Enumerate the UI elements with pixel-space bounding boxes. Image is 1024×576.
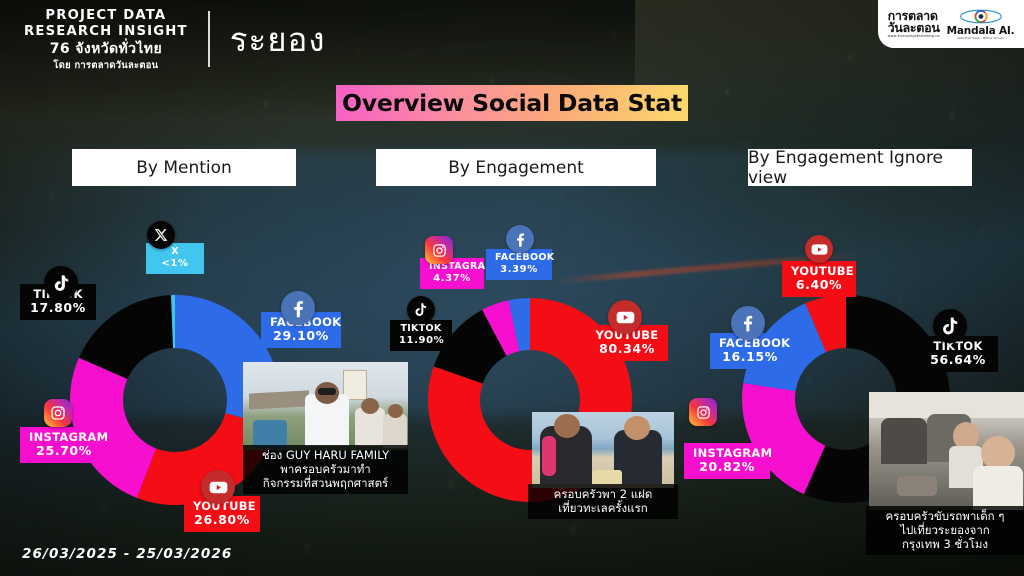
section-label-2: By Engagement Ignore view bbox=[748, 148, 972, 188]
instagram-icon bbox=[425, 236, 453, 264]
youtube-icon bbox=[805, 235, 833, 263]
page-title: Overview Social Data Stat bbox=[336, 85, 688, 121]
instagram-icon bbox=[689, 398, 717, 426]
pill-youtube-ignore-view: YOUTUBE 6.40% bbox=[782, 261, 856, 297]
infographic-canvas: PROJECT DATA RESEARCH INSIGHT 76 จังหวัด… bbox=[0, 0, 1024, 576]
tiktok-icon bbox=[407, 296, 435, 324]
header-line-4: โดย การตลาดวันละตอน bbox=[24, 60, 188, 71]
caption-mention-line-3: กิจกรรมที่สวนพฤกศาสตร์ bbox=[251, 476, 400, 490]
tiktok-icon bbox=[44, 266, 78, 300]
pill-youtube-ignore-view-value: 6.40% bbox=[791, 278, 847, 292]
caption-ignore-view-line-2: ไปเที่ยวระยองจาก bbox=[874, 523, 1016, 537]
mandala-eye-icon bbox=[960, 8, 1002, 25]
header-line-3: 76 จังหวัดทั่วไทย bbox=[24, 41, 188, 58]
youtube-icon bbox=[608, 300, 642, 334]
header-line-2: RESEARCH INSIGHT bbox=[24, 24, 188, 40]
section-label-0: By Mention bbox=[136, 158, 232, 178]
province-name: ระยอง bbox=[230, 13, 326, 66]
pill-instagram-ignore-view-name: INSTAGRAM bbox=[693, 447, 761, 460]
pill-tiktok-mention-value: 17.80% bbox=[29, 301, 87, 315]
pill-youtube-mention-value: 26.80% bbox=[193, 513, 251, 527]
section-header-by-engagement: By Engagement bbox=[376, 149, 656, 186]
pill-tiktok-engagement-name: TIKTOK bbox=[399, 324, 443, 335]
caption-mention-line-2: พาครอบครัวมาทำ bbox=[251, 462, 400, 476]
pill-facebook-mention-value: 29.10% bbox=[270, 329, 332, 343]
thumbnail-ignore-view bbox=[869, 392, 1024, 510]
pill-tiktok-ignore-view: TIKTOK 56.64% bbox=[918, 336, 998, 372]
pill-facebook-engagement-value: 3.39% bbox=[495, 264, 543, 275]
pill-instagram-ignore-view: INSTAGRAM 20.82% bbox=[684, 443, 770, 479]
pill-youtube-ignore-view-name: YOUTUBE bbox=[791, 265, 847, 278]
page-title-text: Overview Social Data Stat bbox=[342, 89, 682, 117]
facebook-icon bbox=[731, 306, 765, 340]
tiktok-icon bbox=[933, 309, 967, 343]
mandala-ai-logo: Mandala AI. CREATIVE DATA - MEDIA SOCIAL bbox=[947, 8, 1015, 39]
logo-brand-url: www.EverydayMarketing.co bbox=[888, 35, 940, 38]
header-branding: PROJECT DATA RESEARCH INSIGHT 76 จังหวัด… bbox=[24, 8, 325, 71]
caption-ignore-view-line-1: ครอบครัวขับรถพาเด็ก ๆ bbox=[874, 509, 1016, 523]
header-divider bbox=[208, 11, 210, 67]
logo-panel: การตลาด วันละตอน www.EverydayMarketing.c… bbox=[878, 0, 1024, 48]
pill-instagram-mention: INSTAGRAM 25.70% bbox=[20, 427, 108, 463]
caption-mention-line-1: ช่อง GUY HARU FAMILY bbox=[251, 448, 400, 462]
youtube-icon bbox=[201, 470, 235, 504]
caption-engagement-line-2: เที่ยวทะเลครั้งแรก bbox=[536, 501, 670, 515]
section-header-by-engagement-ignore-view: By Engagement Ignore view bbox=[748, 149, 972, 186]
pill-tiktok-ignore-view-value: 56.64% bbox=[927, 353, 989, 367]
section-label-1: By Engagement bbox=[448, 158, 584, 178]
pill-tiktok-engagement: TIKTOK 11.90% bbox=[390, 320, 452, 351]
pill-x-mention-value: <1% bbox=[155, 258, 195, 269]
footer-date-range: 26/03/2025 - 25/03/2026 bbox=[22, 546, 232, 562]
facebook-icon bbox=[281, 291, 315, 325]
logo-brand-line-2: วันละตอน bbox=[888, 22, 940, 34]
pill-facebook-engagement-name: FACEBOOK bbox=[495, 253, 543, 264]
header-line-1: PROJECT DATA bbox=[24, 8, 188, 24]
caption-mention: ช่อง GUY HARU FAMILY พาครอบครัวมาทำ กิจก… bbox=[243, 445, 408, 494]
pill-instagram-engagement-value: 4.37% bbox=[429, 273, 475, 284]
thumbnail-engagement bbox=[532, 412, 674, 488]
caption-engagement-line-1: ครอบครัวพา 2 แฝด bbox=[536, 487, 670, 501]
facebook-icon bbox=[506, 225, 534, 253]
caption-engagement: ครอบครัวพา 2 แฝด เที่ยวทะเลครั้งแรก bbox=[528, 484, 678, 519]
pill-facebook-engagement: FACEBOOK 3.39% bbox=[486, 249, 552, 280]
pill-instagram-ignore-view-value: 20.82% bbox=[693, 460, 761, 474]
pill-tiktok-engagement-value: 11.90% bbox=[399, 335, 443, 346]
pill-instagram-mention-name: INSTAGRAM bbox=[29, 431, 99, 444]
pill-youtube-engagement-value: 80.34% bbox=[595, 342, 659, 356]
thumbnail-mention bbox=[243, 362, 408, 450]
pill-facebook-ignore-view-value: 16.15% bbox=[719, 350, 781, 364]
section-header-by-mention: By Mention bbox=[72, 149, 296, 186]
mandala-tagline: CREATIVE DATA - MEDIA SOCIAL bbox=[947, 37, 1015, 40]
caption-ignore-view-line-3: กรุงเทพ 3 ชั่วโมง bbox=[874, 537, 1016, 551]
instagram-icon bbox=[44, 399, 72, 427]
pill-tiktok-ignore-view-name: TIKTOK bbox=[927, 340, 989, 353]
x-twitter-icon bbox=[147, 221, 175, 249]
everyday-marketing-logo: การตลาด วันละตอน www.EverydayMarketing.c… bbox=[888, 10, 940, 39]
pill-instagram-mention-value: 25.70% bbox=[29, 444, 99, 458]
caption-ignore-view: ครอบครัวขับรถพาเด็ก ๆ ไปเที่ยวระยองจาก ก… bbox=[866, 506, 1024, 555]
